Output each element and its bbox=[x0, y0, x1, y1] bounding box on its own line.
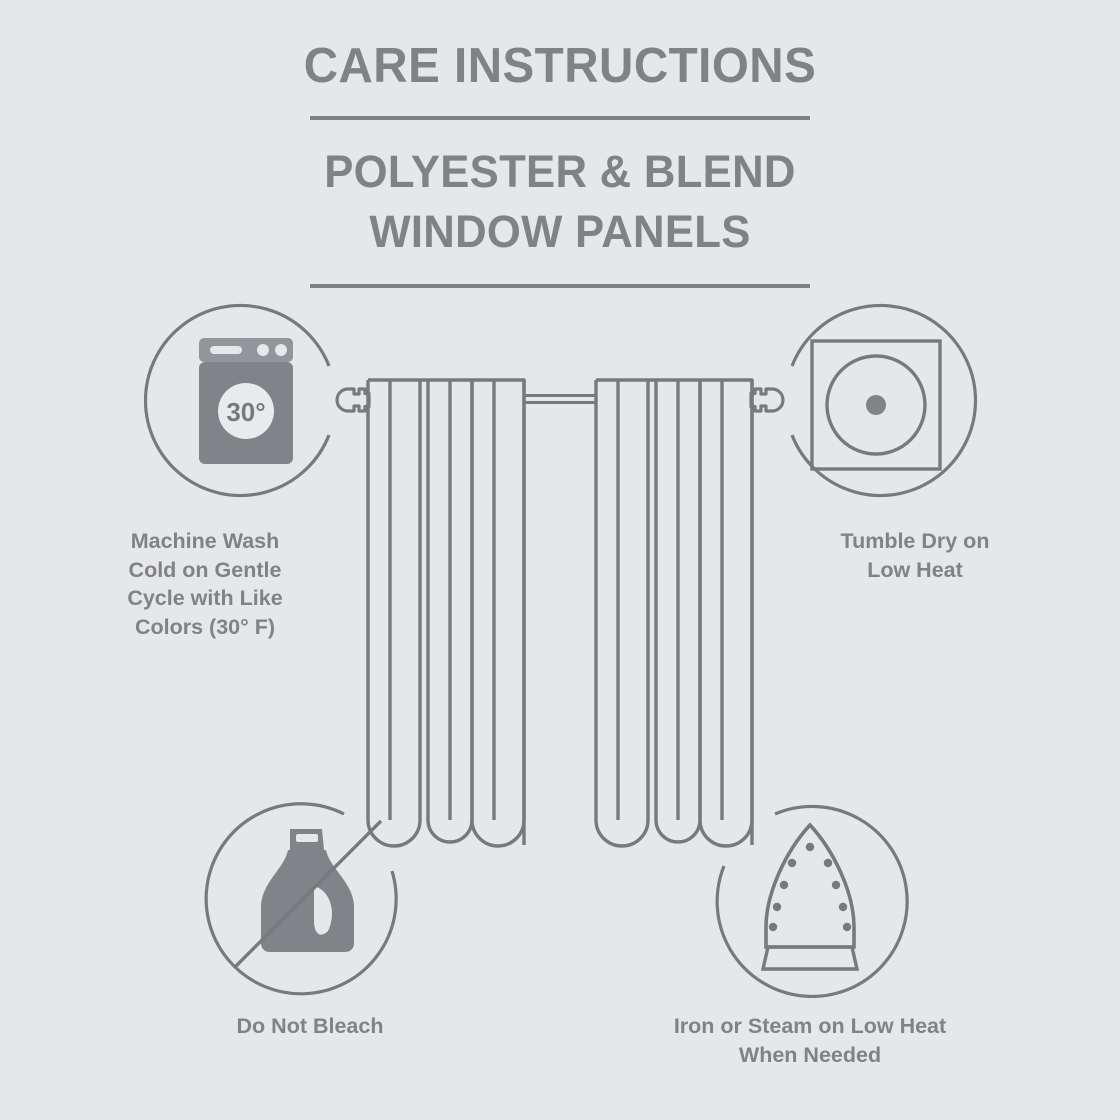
curtain-rod bbox=[524, 396, 596, 403]
caption-line: Iron or Steam on Low Heat bbox=[600, 1012, 1020, 1041]
steam-holes bbox=[769, 843, 851, 931]
header: CARE INSTRUCTIONS POLYESTER & BLEND WIND… bbox=[0, 0, 1120, 288]
wash-temperature-label: 30° bbox=[226, 397, 265, 427]
tumble-dry-caption: Tumble Dry on Low Heat bbox=[770, 527, 1060, 584]
caption-line: Colors (30° F) bbox=[60, 613, 350, 642]
caption-line: Low Heat bbox=[770, 556, 1060, 585]
do-not-bleach-badge[interactable] bbox=[204, 793, 409, 998]
subtitle-line-2: WINDOW PANELS bbox=[17, 202, 1103, 262]
care-instructions-infographic: CARE INSTRUCTIONS POLYESTER & BLEND WIND… bbox=[0, 0, 1120, 1120]
iron-caption: Iron or Steam on Low Heat When Needed bbox=[600, 1012, 1020, 1069]
do-not-bleach-caption: Do Not Bleach bbox=[100, 1012, 520, 1041]
caption-line: Machine Wash bbox=[60, 527, 350, 556]
machine-wash-badge[interactable]: 30° bbox=[144, 298, 349, 503]
caption-line: Cold on Gentle bbox=[60, 556, 350, 585]
machine-wash-caption: Machine Wash Cold on Gentle Cycle with L… bbox=[60, 527, 350, 641]
curtain-panel-left bbox=[368, 380, 524, 846]
curtain-panel-right bbox=[596, 380, 752, 846]
tumble-dry-badge[interactable] bbox=[772, 298, 977, 503]
subtitle-divider bbox=[310, 284, 810, 288]
page-title: CARE INSTRUCTIONS bbox=[17, 0, 1103, 94]
caption-line: When Needed bbox=[600, 1041, 1020, 1070]
subtitle-line-1: POLYESTER & BLEND bbox=[17, 142, 1103, 202]
subtitle: POLYESTER & BLEND WINDOW PANELS bbox=[17, 120, 1103, 262]
iron-badge[interactable] bbox=[706, 793, 911, 998]
caption-line: Cycle with Like bbox=[60, 584, 350, 613]
bleach-bottle-icon bbox=[261, 829, 354, 952]
caption-line: Tumble Dry on bbox=[770, 527, 1060, 556]
washing-machine-icon: 30° bbox=[199, 338, 293, 464]
iron-icon bbox=[763, 825, 857, 969]
tumble-dry-icon bbox=[812, 341, 940, 469]
caption-line: Do Not Bleach bbox=[100, 1012, 520, 1041]
